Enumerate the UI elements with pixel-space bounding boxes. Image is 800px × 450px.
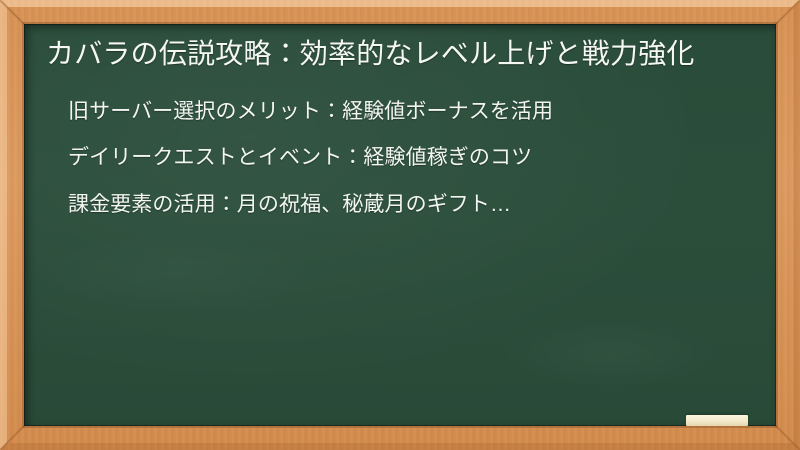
list-item: 旧サーバー選択のメリット：経験値ボーナスを活用: [68, 97, 754, 127]
chalkboard-screenshot: カバラの伝説攻略：効率的なレベル上げと戦力強化 旧サーバー選択のメリット：経験値…: [0, 0, 800, 450]
list-item: 課金要素の活用：月の祝福、秘蔵月のギフト…: [68, 190, 754, 220]
list-item: デイリークエストとイベント：経験値稼ぎのコツ: [68, 143, 754, 173]
page-title: カバラの伝説攻略：効率的なレベル上げと戦力強化: [46, 34, 754, 75]
topic-list: 旧サーバー選択のメリット：経験値ボーナスを活用 デイリークエストとイベント：経験…: [46, 97, 754, 220]
chalkboard-surface: カバラの伝説攻略：効率的なレベル上げと戦力強化 旧サーバー選択のメリット：経験値…: [24, 24, 776, 426]
chalk-stick-icon: [686, 415, 748, 426]
chalkboard-content: カバラの伝説攻略：効率的なレベル上げと戦力強化 旧サーバー選択のメリット：経験値…: [24, 24, 776, 220]
